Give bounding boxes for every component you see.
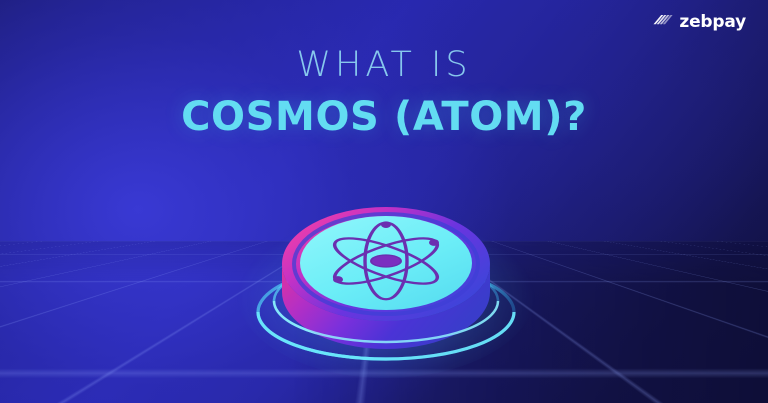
atom-nucleus [371, 255, 401, 267]
title-block: WHAT IS COSMOS (ATOM)? [0, 48, 768, 139]
atom-electron-3 [333, 276, 343, 283]
zebpay-logo[interactable]: zebpay [653, 13, 746, 32]
zebpay-chevron-mark-icon [653, 13, 673, 32]
atom-electron-2 [429, 239, 439, 246]
headline-text: COSMOS (ATOM)? [0, 95, 768, 139]
banner-root: zebpay WHAT IS COSMOS (ATOM)? [0, 0, 768, 403]
eyebrow-text: WHAT IS [0, 48, 768, 83]
atom-electron-1 [381, 221, 391, 228]
cosmos-coin-illustration [250, 172, 522, 370]
zebpay-wordmark: zebpay [679, 14, 746, 31]
